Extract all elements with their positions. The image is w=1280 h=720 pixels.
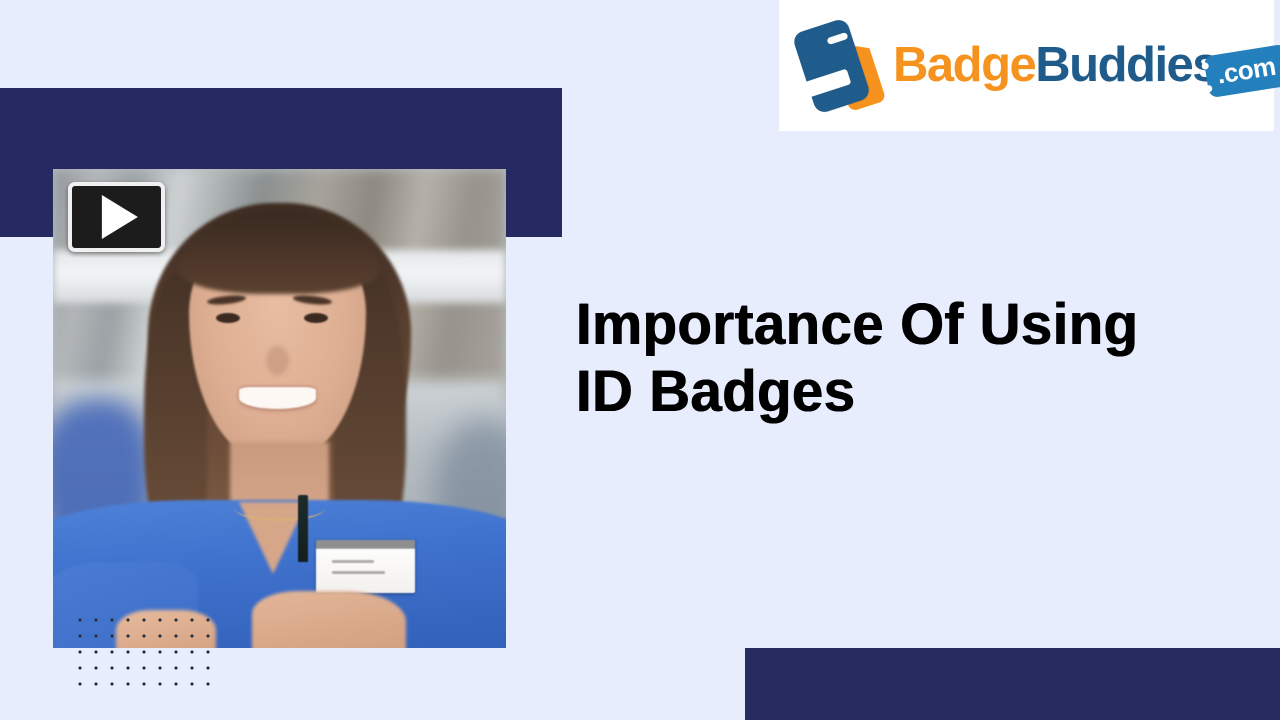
badge-text-line-2 (332, 571, 386, 574)
brand-word-badge: Badge (893, 41, 1035, 90)
play-triangle-icon (101, 195, 137, 239)
pocket-pen (298, 495, 309, 562)
brand-word-buddies: Buddies (1035, 41, 1218, 90)
person-eye-left (216, 313, 240, 323)
badge-card-icon (793, 18, 891, 114)
person-smile (239, 387, 316, 409)
badge-text-line-1 (332, 560, 374, 563)
page-title-line-1: Importance Of Using (576, 292, 1139, 357)
brand-logo[interactable]: BadgeBuddies .com (779, 0, 1274, 131)
person-forearm (252, 591, 406, 648)
page-title: Importance Of Using ID Badges (576, 291, 1216, 426)
dot-grid-decoration (70, 610, 218, 694)
person-nose (266, 346, 289, 375)
navy-accent-block-bottom (745, 648, 1280, 720)
slide-canvas: Importance Of Using ID Badges BadgeBuddi… (0, 0, 1280, 720)
id-name-badge (316, 540, 416, 593)
person-necklace (234, 495, 325, 521)
play-button[interactable] (68, 182, 165, 252)
badge-icon-blue-card (791, 17, 871, 115)
brand-wordmark: BadgeBuddies .com (893, 40, 1280, 92)
person-eye-right (304, 313, 328, 323)
page-title-line-2: ID Badges (576, 359, 855, 424)
